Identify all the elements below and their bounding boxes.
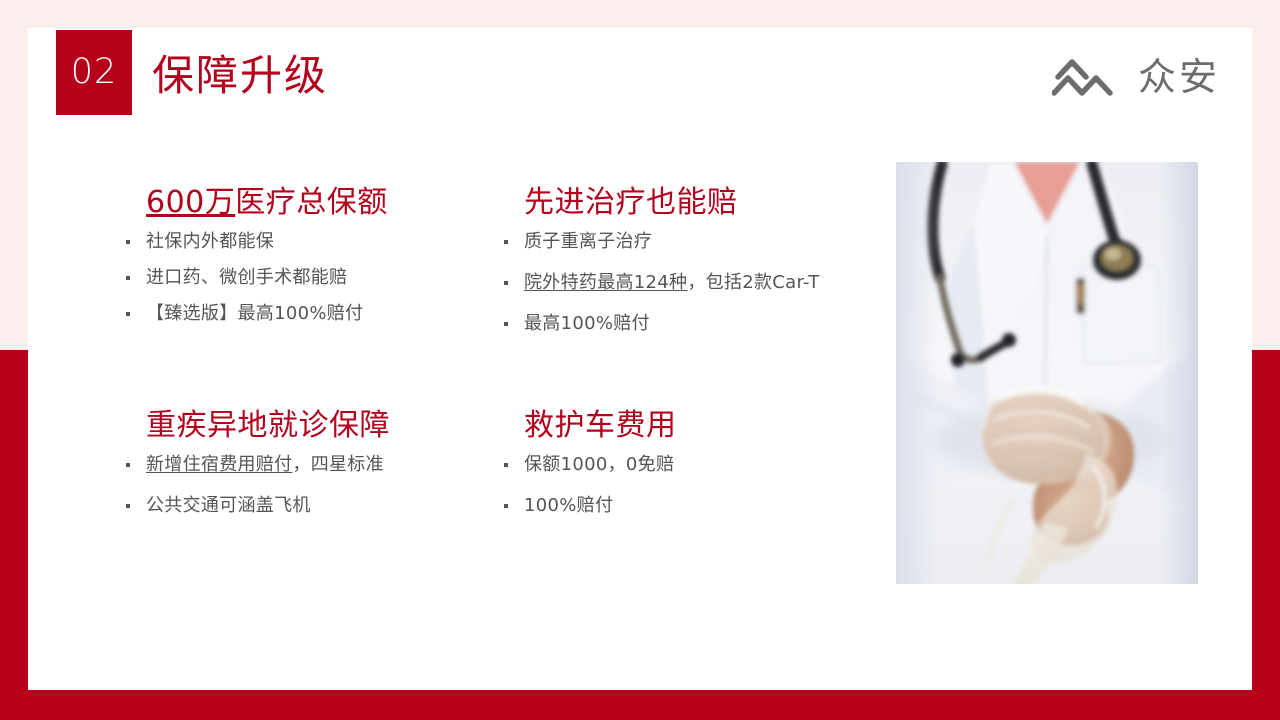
feature-heading: 先进治疗也能赔 (524, 183, 916, 223)
bullet-highlight: 院外特药最高124种 (524, 272, 687, 293)
list-item: 公共交通可涵盖飞机 (118, 493, 498, 519)
bullet-text: 进口药、微创手术都能赔 (146, 267, 347, 288)
slide-root: 02 保障升级 众安 600万医疗总保额 社保内外都能保 进口药、微创手术都能赔… (0, 0, 1280, 720)
slide-content-card: 02 保障升级 众安 600万医疗总保额 社保内外都能保 进口药、微创手术都能赔… (28, 28, 1252, 690)
feature-block-advanced-treatment: 先进治疗也能赔 质子重离子治疗 院外特药最高124种，包括2款Car-T 最高1… (496, 183, 916, 352)
bullet-text: 保额1000，0免赔 (524, 454, 674, 475)
feature-heading-highlight: 600万 (146, 185, 235, 220)
bullet-text: ，包括2款Car-T (687, 272, 819, 293)
section-number-badge: 02 (56, 30, 132, 115)
chevron-mountain-icon (1052, 56, 1126, 98)
list-item: 保额1000，0免赔 (496, 452, 916, 478)
list-item: 院外特药最高124种，包括2款Car-T (496, 270, 916, 296)
feature-block-ambulance: 救护车费用 保额1000，0免赔 100%赔付 (496, 406, 916, 534)
feature-block-critical-illness-travel: 重疾异地就诊保障 新增住宿费用赔付，四星标准 公共交通可涵盖飞机 (118, 406, 498, 534)
doctor-photo-illustration (896, 162, 1198, 584)
bullet-highlight: 新增住宿费用赔付 (146, 454, 292, 475)
feature-heading-rest: 先进治疗也能赔 (524, 185, 738, 220)
feature-block-medical-coverage: 600万医疗总保额 社保内外都能保 进口药、微创手术都能赔 【臻选版】最高100… (118, 183, 498, 337)
feature-heading: 重疾异地就诊保障 (146, 406, 498, 446)
feature-heading-rest: 重疾异地就诊保障 (146, 408, 390, 443)
bullet-text: 100%赔付 (524, 495, 613, 516)
list-item: 进口药、微创手术都能赔 (118, 265, 498, 291)
bullet-text: 最高100%赔付 (524, 313, 650, 334)
feature-heading-rest: 医疗总保额 (235, 185, 388, 220)
feature-bullet-list: 保额1000，0免赔 100%赔付 (496, 452, 916, 519)
list-item: 【臻选版】最高100%赔付 (118, 301, 498, 327)
list-item: 最高100%赔付 (496, 311, 916, 337)
list-item: 100%赔付 (496, 493, 916, 519)
brand-logo: 众安 (1052, 48, 1220, 106)
feature-heading-rest: 救护车费用 (524, 408, 677, 443)
bullet-text: 【臻选版】最高100%赔付 (146, 303, 363, 324)
feature-heading: 救护车费用 (524, 406, 916, 446)
slide-header: 02 保障升级 众安 (28, 28, 1252, 133)
feature-bullet-list: 质子重离子治疗 院外特药最高124种，包括2款Car-T 最高100%赔付 (496, 229, 916, 337)
doctor-gloves-photo (896, 162, 1198, 584)
bullet-text: 质子重离子治疗 (524, 231, 652, 252)
feature-bullet-list: 新增住宿费用赔付，四星标准 公共交通可涵盖飞机 (118, 452, 498, 519)
bullet-text: ，四星标准 (292, 454, 384, 475)
feature-bullet-list: 社保内外都能保 进口药、微创手术都能赔 【臻选版】最高100%赔付 (118, 229, 498, 327)
brand-name: 众安 (1138, 55, 1220, 99)
list-item: 质子重离子治疗 (496, 229, 916, 255)
bullet-text: 社保内外都能保 (146, 231, 274, 252)
list-item: 社保内外都能保 (118, 229, 498, 255)
page-title: 保障升级 (152, 50, 328, 102)
list-item: 新增住宿费用赔付，四星标准 (118, 452, 498, 478)
bullet-text: 公共交通可涵盖飞机 (146, 495, 311, 516)
feature-heading: 600万医疗总保额 (146, 183, 498, 223)
